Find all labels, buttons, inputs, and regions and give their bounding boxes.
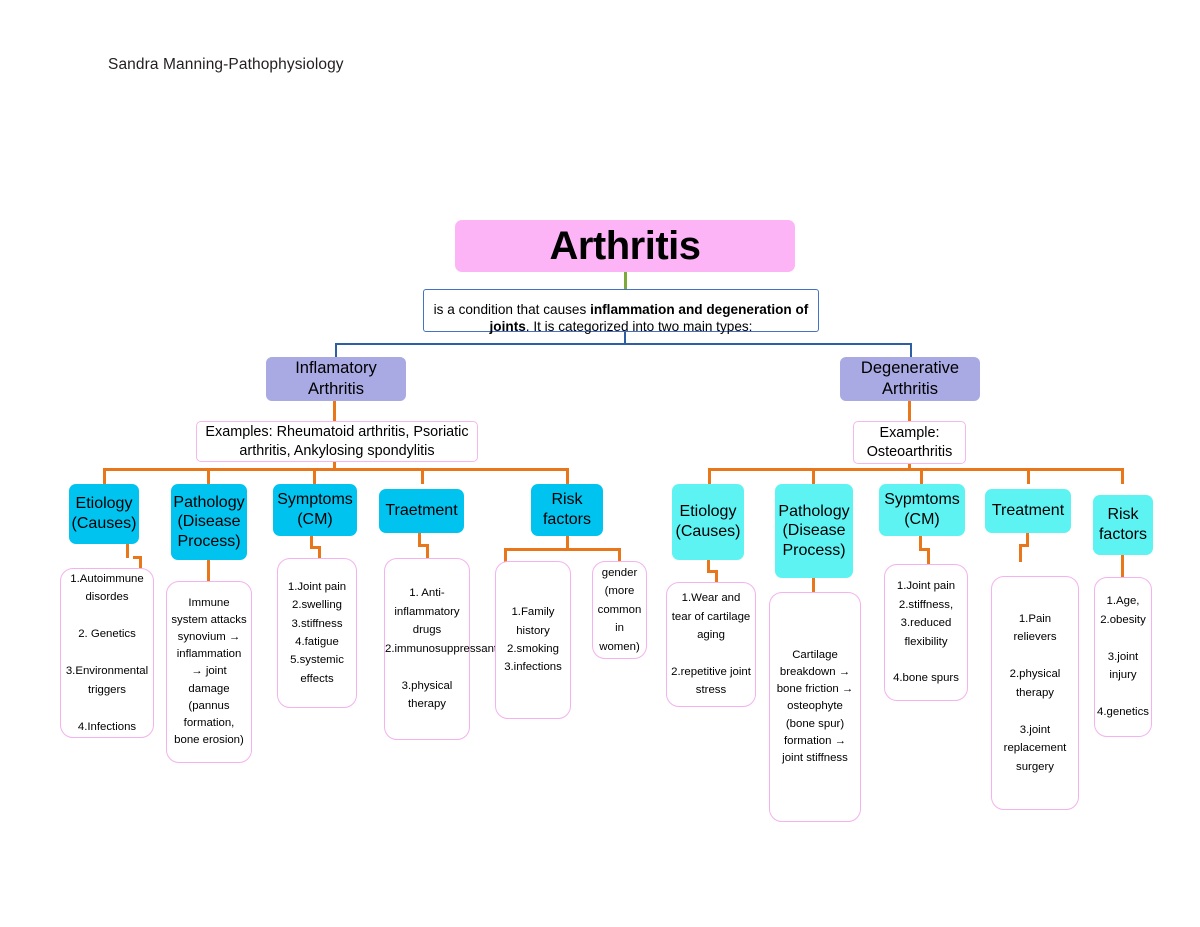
connector-right-category-bus: [709, 468, 1123, 471]
category-node-degenerative-pathology[interactable]: Pathology (Disease Process): [775, 484, 853, 578]
connector-right-cat-1: [708, 468, 711, 484]
connector-left-cat-1: [103, 468, 106, 484]
category-node-inflammatory-risk[interactable]: Risk factors: [531, 484, 603, 536]
type-node-inflammatory[interactable]: Inflamatory Arthritis: [266, 357, 406, 401]
connector-to-degenerative: [910, 343, 912, 357]
leaf-node-degenerative-symptoms[interactable]: 1.Joint pain 2.stiffness, 3.reduced flex…: [884, 564, 968, 701]
type-node-inflammatory-label: Inflamatory Arthritis: [266, 358, 406, 399]
type-node-degenerative[interactable]: Degenerative Arthritis: [840, 357, 980, 401]
leaf-node-inflammatory-risk-1[interactable]: 1.Family history 2.smoking 3.infections: [495, 561, 571, 719]
leaf-node-inflammatory-treatment-text: 1. Anti-inflammatory drugs 2.immunosuppr…: [381, 584, 473, 713]
connector-right-cat-3: [920, 468, 923, 484]
examples-node-degenerative-label: Example: Osteoarthritis: [854, 424, 965, 461]
leaf-node-degenerative-symptoms-text: 1.Joint pain 2.stiffness, 3.reduced flex…: [885, 577, 967, 688]
connector-etiology-l-v1: [126, 544, 129, 558]
connector-type-bus: [336, 343, 912, 345]
leaf-node-degenerative-pathology-text: Cartilage breakdown → bone friction → os…: [770, 647, 860, 767]
leaf-node-inflammatory-symptoms[interactable]: 1.Joint pain 2.swelling 3.stiffness 4.fa…: [277, 558, 357, 708]
connector-right-cat-4: [1027, 468, 1030, 484]
leaf-node-inflammatory-symptoms-text: 1.Joint pain 2.swelling 3.stiffness 4.fa…: [278, 578, 356, 689]
category-node-degenerative-etiology-label: Etiology (Causes): [672, 502, 745, 541]
connector-left-cat-3: [313, 468, 316, 484]
page-title: Sandra Manning-Pathophysiology: [108, 56, 344, 74]
connector-left-cat-5: [566, 468, 569, 484]
leaf-node-inflammatory-risk-2-text: gender (more common in women): [593, 564, 646, 656]
category-node-inflammatory-etiology[interactable]: Etiology (Causes): [69, 484, 139, 544]
category-node-degenerative-etiology[interactable]: Etiology (Causes): [672, 484, 744, 560]
category-node-inflammatory-symptoms-label: Symptoms (CM): [273, 490, 357, 529]
leaf-node-degenerative-risk[interactable]: 1.Age, 2.obesity 3.joint injury 4.geneti…: [1094, 577, 1152, 737]
root-description-label: is a condition that causes inflammation …: [424, 286, 818, 336]
leaf-node-inflammatory-pathology-text: Immune system attacks synovium → inflamm…: [167, 595, 251, 749]
connector-right-cat-5: [1121, 468, 1124, 484]
connector-inflammatory-to-examples: [333, 401, 336, 421]
category-node-degenerative-treatment[interactable]: Treatment: [985, 489, 1071, 533]
connector-risk-l-bus: [505, 548, 620, 551]
connector-degenerative-to-examples: [908, 401, 911, 421]
leaf-node-degenerative-etiology[interactable]: 1.Wear and tear of cartilage aging 2.rep…: [666, 582, 756, 707]
category-node-degenerative-treatment-label: Treatment: [985, 501, 1071, 521]
leaf-node-inflammatory-etiology-text: 1.Autoimmune disordes 2. Genetics 3.Envi…: [61, 570, 153, 736]
desc-tail: . It is categorized into two main types:: [526, 319, 753, 334]
connector-to-inflammatory: [335, 343, 337, 357]
leaf-node-degenerative-etiology-text: 1.Wear and tear of cartilage aging 2.rep…: [667, 589, 755, 700]
leaf-node-inflammatory-treatment[interactable]: 1. Anti-inflammatory drugs 2.immunosuppr…: [384, 558, 470, 740]
category-node-inflammatory-pathology-label: Pathology (Disease Process): [169, 493, 248, 552]
connector-right-cat-2: [812, 468, 815, 484]
leaf-node-degenerative-pathology[interactable]: Cartilage breakdown → bone friction → os…: [769, 592, 861, 822]
examples-node-degenerative[interactable]: Example: Osteoarthritis: [853, 421, 966, 464]
category-node-degenerative-risk[interactable]: Risk factors: [1093, 495, 1153, 555]
category-node-inflammatory-pathology[interactable]: Pathology (Disease Process): [171, 484, 247, 560]
category-node-inflammatory-symptoms[interactable]: Symptoms (CM): [273, 484, 357, 536]
root-title-node[interactable]: Arthritis: [455, 220, 795, 272]
leaf-node-degenerative-risk-text: 1.Age, 2.obesity 3.joint injury 4.geneti…: [1093, 592, 1153, 721]
connector-left-cat-4: [421, 468, 424, 484]
category-node-degenerative-pathology-label: Pathology (Disease Process): [774, 502, 853, 561]
examples-node-inflammatory[interactable]: Examples: Rheumatoid arthritis, Psoriati…: [196, 421, 478, 462]
leaf-node-degenerative-treatment[interactable]: 1.Pain relievers 2.physical therapy 3.jo…: [991, 576, 1079, 810]
category-node-inflammatory-treatment-label: Traetment: [379, 501, 464, 521]
root-description-node[interactable]: is a condition that causes inflammation …: [423, 289, 819, 332]
connector-left-category-bus: [104, 468, 568, 471]
category-node-degenerative-symptoms-label: Sypmtoms (CM): [879, 490, 965, 529]
examples-node-inflammatory-label: Examples: Rheumatoid arthritis, Psoriati…: [197, 423, 477, 460]
desc-lead: is a condition that causes: [434, 302, 590, 317]
leaf-node-degenerative-treatment-text: 1.Pain relievers 2.physical therapy 3.jo…: [992, 610, 1078, 776]
leaf-node-inflammatory-risk-2[interactable]: gender (more common in women): [592, 561, 647, 659]
leaf-node-inflammatory-risk-1-text: 1.Family history 2.smoking 3.infections: [496, 603, 570, 677]
category-node-inflammatory-treatment[interactable]: Traetment: [379, 489, 464, 533]
category-node-inflammatory-etiology-label: Etiology (Causes): [68, 494, 141, 533]
connector-risk-r: [1121, 555, 1124, 578]
type-node-degenerative-label: Degenerative Arthritis: [840, 358, 980, 399]
connector-left-cat-2: [207, 468, 210, 484]
leaf-node-inflammatory-pathology[interactable]: Immune system attacks synovium → inflamm…: [166, 581, 252, 763]
leaf-node-inflammatory-etiology[interactable]: 1.Autoimmune disordes 2. Genetics 3.Envi…: [60, 568, 154, 738]
connector-treatment-r-v2: [1019, 544, 1022, 562]
category-node-degenerative-symptoms[interactable]: Sypmtoms (CM): [879, 484, 965, 536]
root-title-label: Arthritis: [455, 224, 795, 269]
connector-pathology-l: [207, 560, 210, 582]
mindmap-canvas: Sandra Manning-Pathophysiology Arthritis…: [0, 0, 1200, 927]
category-node-degenerative-risk-label: Risk factors: [1093, 505, 1153, 544]
category-node-inflammatory-risk-label: Risk factors: [531, 490, 603, 529]
